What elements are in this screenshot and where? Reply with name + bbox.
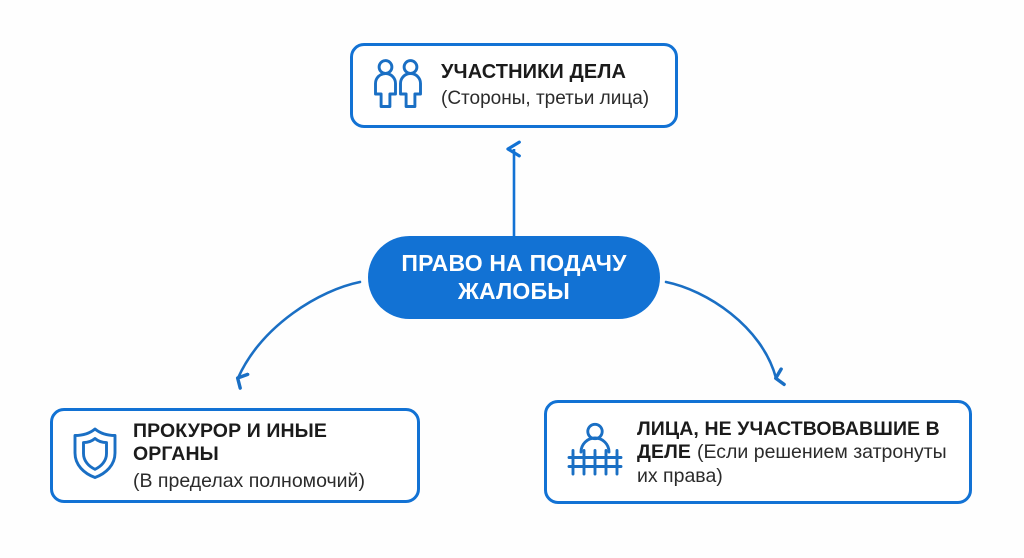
node-top-subtitle: (Стороны, третьи лица)	[441, 87, 659, 110]
node-top-title: УЧАСТНИКИ ДЕЛА	[441, 61, 659, 85]
center-node-line-1: ПРАВО НА ПОДАЧУ	[401, 250, 626, 277]
node-left-text: ПРОКУРОР И ИНЫЕ ОРГАНЫ (В пределах полно…	[133, 418, 403, 494]
two-people-icon	[371, 56, 427, 115]
node-right-flow: ЛИЦА, НЕ УЧАСТВОВАВШИЕ В ДЕЛЕ(Если решен…	[637, 418, 955, 489]
node-left-title-line-2: ОРГАНЫ	[133, 443, 403, 466]
node-persons-not-involved[interactable]: ЛИЦА, НЕ УЧАСТВОВАВШИЕ В ДЕЛЕ(Если решен…	[544, 400, 972, 504]
node-prosecutor-and-other-bodies[interactable]: ПРОКУРОР И ИНЫЕ ОРГАНЫ (В пределах полно…	[50, 408, 420, 503]
node-left-subtitle: (В пределах полномочий)	[133, 470, 403, 494]
arrow-center-to-right	[666, 282, 776, 378]
node-right-to-file-complaint[interactable]: ПРАВО НА ПОДАЧУ ЖАЛОБЫ	[368, 236, 660, 319]
diagram-canvas: УЧАСТНИКИ ДЕЛА (Стороны, третьи лица) ПР…	[0, 0, 1024, 558]
shield-icon	[69, 425, 121, 486]
person-behind-fence-icon	[565, 420, 625, 485]
center-node-line-2: ЖАЛОБЫ	[401, 278, 626, 305]
node-top-text: УЧАСТНИКИ ДЕЛА (Стороны, третьи лица)	[441, 61, 659, 110]
arrow-center-to-left	[238, 282, 360, 378]
node-case-participants[interactable]: УЧАСТНИКИ ДЕЛА (Стороны, третьи лица)	[350, 43, 678, 128]
node-left-title-line-1: ПРОКУРОР И ИНЫЕ	[133, 420, 403, 443]
node-right-text: ЛИЦА, НЕ УЧАСТВОВАВШИЕ В ДЕЛЕ(Если решен…	[637, 416, 955, 489]
center-node-text: ПРАВО НА ПОДАЧУ ЖАЛОБЫ	[401, 250, 626, 304]
